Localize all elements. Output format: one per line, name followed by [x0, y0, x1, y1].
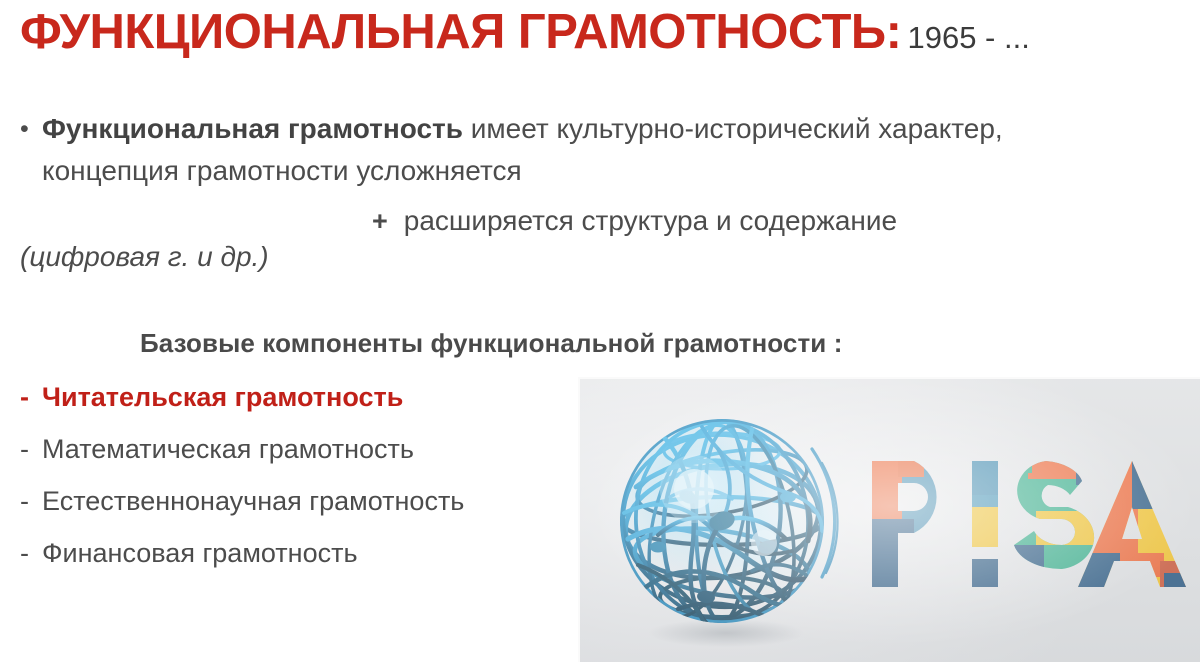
list-item: - Читательская грамотность: [20, 382, 565, 434]
page-title: ФУНКЦИОНАЛЬНАЯ ГРАМОТНОСТЬ:1965 - ...: [20, 8, 1030, 57]
list-item: - Математическая грамотность: [20, 434, 565, 486]
bullet-bold-lead: Функциональная грамотность: [42, 113, 463, 144]
list-item-label: Финансовая грамотность: [42, 538, 358, 569]
plus-sign-icon: +: [372, 206, 404, 236]
components-list: - Читательская грамотность - Математичес…: [20, 382, 565, 590]
pisa-wordmark: [868, 457, 1188, 592]
bullet-paragraph: • Функциональная грамотность имеет культ…: [20, 108, 1060, 192]
digital-literacy-note: (цифровая г. и др.): [20, 238, 269, 276]
list-item: - Естественнонаучная грамотность: [20, 486, 565, 538]
components-heading: Базовые компоненты функциональной грамот…: [140, 328, 842, 359]
plus-line: +расширяется структура и содержание: [372, 202, 897, 240]
plus-line-text: расширяется структура и содержание: [404, 205, 897, 236]
list-item-label: Читательская грамотность: [42, 382, 403, 413]
pisa-logo-image: [578, 377, 1200, 662]
bullet-dot-icon: •: [20, 108, 42, 150]
page-title-main: ФУНКЦИОНАЛЬНАЯ ГРАМОТНОСТЬ:: [20, 5, 901, 59]
wireframe-globe-icon: [602, 401, 852, 651]
dash-icon: -: [20, 434, 42, 465]
bullet-paragraph-text: Функциональная грамотность имеет культур…: [42, 108, 1022, 192]
list-item-label: Математическая грамотность: [42, 434, 414, 465]
dash-icon: -: [20, 538, 42, 569]
list-item-label: Естественнонаучная грамотность: [42, 486, 464, 517]
dash-icon: -: [20, 486, 42, 517]
dash-icon: -: [20, 382, 42, 413]
list-item: - Финансовая грамотность: [20, 538, 565, 590]
page-title-years: 1965 - ...: [901, 20, 1029, 55]
